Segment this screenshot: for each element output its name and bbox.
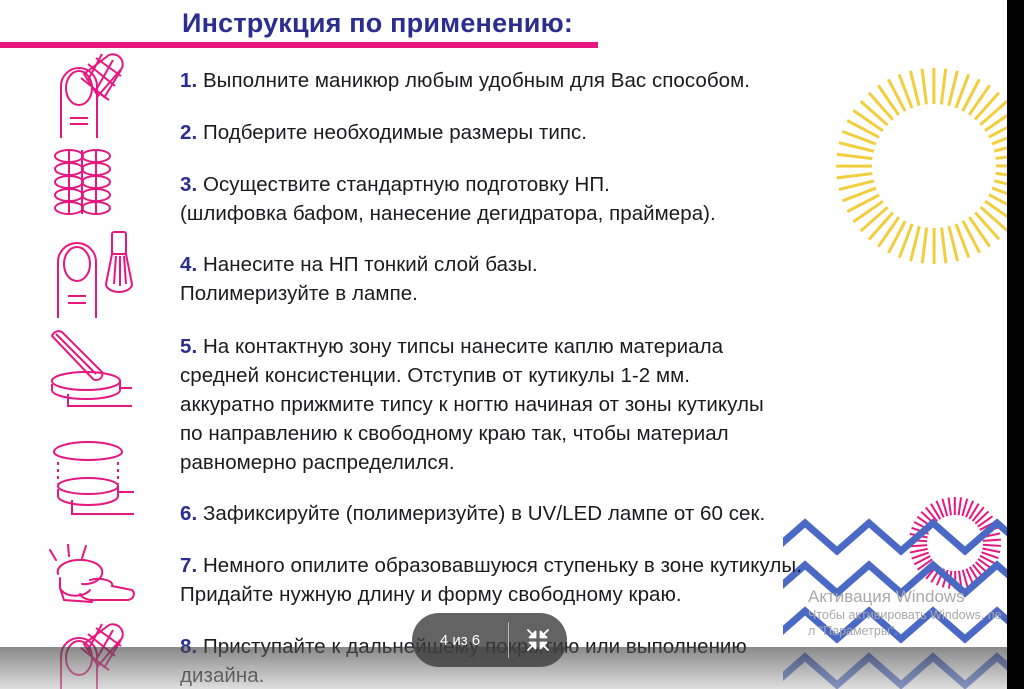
step-text: Осуществите стандартную подготовку НП. [203,173,610,196]
sunburst-ray [968,216,991,247]
instruction-step: 3. Осуществите стандартную подготовку НП… [180,170,940,228]
instruction-step: 2. Подберите необходимые размеры типс. [180,118,940,147]
step-text: Придайте нужную длину и форму свободному… [180,580,940,609]
step-icon-column [36,52,156,689]
step-text: Подберите необходимые размеры типс. [203,121,587,144]
tip-placement-icon [36,440,146,522]
instruction-step: 4. Нанесите на НП тонкий слой базы. Поли… [180,250,940,308]
instruction-step: 6. Зафиксируйте (полимеризуйте) в UV/LED… [180,499,940,528]
page-title: Инструкция по применению: [182,8,573,39]
sunburst-ray [940,69,948,105]
sunburst-ray [996,164,1007,167]
step-number: 2. [180,121,197,144]
instruction-step: 7. Немного опилите образовавшуюся ступен… [180,551,940,609]
title-underline [0,42,598,48]
step-text: аккуратно прижмите типсу к ногтю начиная… [180,390,940,419]
instruction-step: 1. Выполните маникюр любым удобным для В… [180,66,940,95]
uv-lamp-hand-icon [36,544,146,616]
step-number: 5. [180,335,197,358]
step-text: Нанесите на НП тонкий слой базы. [203,253,538,276]
presentation-slide: Инструкция по применению: [0,0,1007,689]
step-number: 7. [180,554,197,577]
step-text: средней консистенции. Отступив от кутику… [180,361,940,390]
nail-brush-icon [36,230,146,320]
step-text: Выполните маникюр любым удобным для Вас … [203,69,750,92]
step-text: Немного опилите образовавшуюся ступеньку… [203,554,802,577]
screenshot-root: Инструкция по применению: [0,0,1024,689]
page-indicator: 4 из 6 [412,632,508,649]
step-number: 6. [180,502,197,525]
collapse-button[interactable] [509,613,567,667]
step-text: Зафиксируйте (полимеризуйте) в UV/LED ла… [203,502,765,525]
step-number: 1. [180,69,197,92]
step-number: 4. [180,253,197,276]
nail-tips-set-icon [36,148,146,218]
instruction-step: 5. На контактную зону типсы нанесите кап… [180,332,940,477]
step-text: равномерно распределился. [180,448,940,477]
step-text: (шлифовка бафом, нанесение дегидратора, … [180,199,940,228]
base-coat-brush-icon [36,328,146,408]
sunburst-ray [995,172,1007,180]
step-number: 3. [180,173,197,196]
sunburst-ray [995,153,1007,161]
collapse-icon [527,629,549,651]
step-text: по направлению к свободному краю так, чт… [180,419,940,448]
step-text: Полимеризуйте в лампе. [180,279,940,308]
player-control-bar[interactable]: 4 из 6 [412,613,567,667]
right-letterbox-bar [1007,0,1024,689]
nail-file-icon [36,52,146,142]
step-text: На контактную зону типсы нанесите каплю … [203,335,723,358]
sunburst-ray [940,227,948,263]
instruction-steps: 1. Выполните маникюр любым удобным для В… [180,66,940,689]
